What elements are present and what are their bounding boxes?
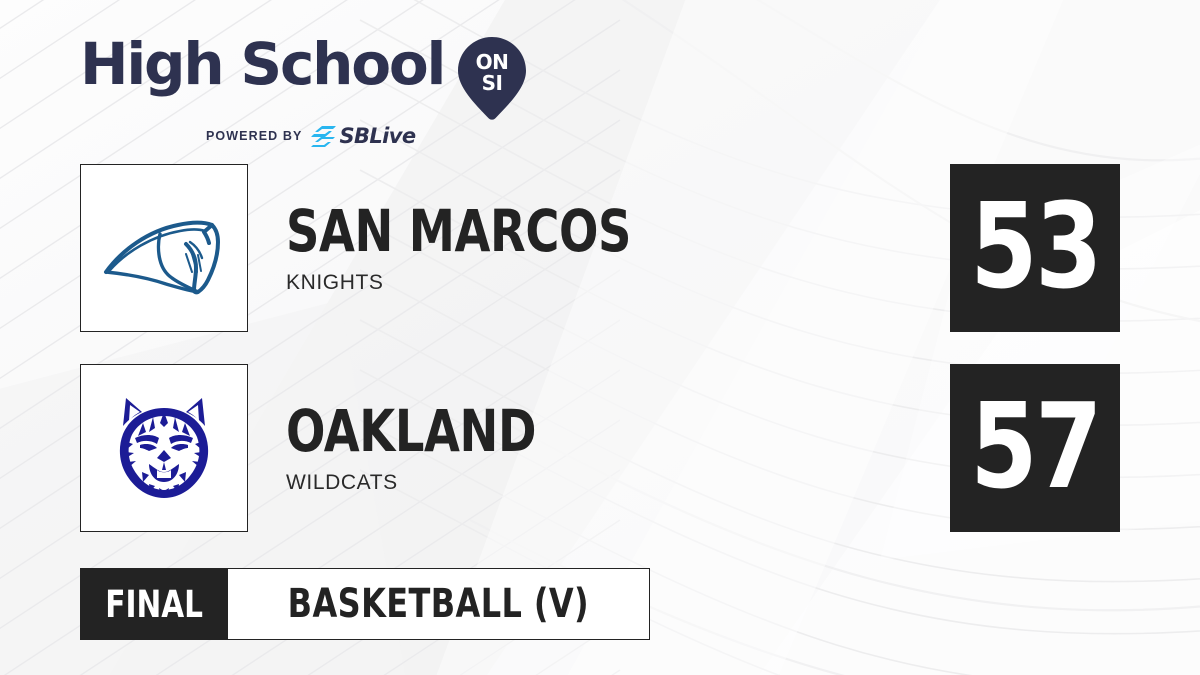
team-row: OAKLAND WILDCATS 57 — [80, 364, 1120, 534]
team-mascot: WILDCATS — [286, 472, 599, 494]
team-score-box: 53 — [950, 164, 1120, 332]
team-score: 57 — [970, 387, 1100, 509]
powered-by-row: POWERED BY SBLive — [206, 125, 510, 147]
status-badge: FINAL — [80, 568, 228, 640]
game-status-bar: FINAL BASKETBALL (V) — [80, 568, 650, 640]
team-row: SAN MARCOS KNIGHTS 53 — [80, 164, 1120, 334]
scorecard-graphic: High School ON SI POWERED BY SBLive — [0, 0, 1200, 675]
team-mascot: KNIGHTS — [286, 272, 717, 294]
team-name: OAKLAND — [286, 402, 536, 460]
team-name: SAN MARCOS — [286, 202, 631, 260]
sblive-logo: SBLive — [311, 125, 415, 147]
on-si-pin-icon: ON SI — [456, 35, 528, 121]
sport-label: BASKETBALL (V) — [288, 584, 589, 624]
wildcat-head-icon — [109, 392, 219, 504]
team-logo-box — [80, 364, 248, 532]
pin-label-si: SI — [482, 71, 503, 95]
team-identity: OAKLAND WILDCATS — [286, 364, 599, 532]
status-badge-label: FINAL — [105, 586, 203, 623]
team-score-box: 57 — [950, 364, 1120, 532]
team-logo-box — [80, 164, 248, 332]
brand-lockup: High School ON SI POWERED BY SBLive — [80, 34, 510, 134]
team-score: 53 — [970, 187, 1100, 309]
sport-label-box: BASKETBALL (V) — [228, 568, 650, 640]
knight-helmet-icon — [100, 198, 228, 298]
brand-top-row: High School ON SI — [80, 34, 510, 121]
brand-wordmark: High School — [80, 34, 444, 94]
powered-by-label: POWERED BY — [206, 129, 302, 143]
sblive-wordmark: SBLive — [339, 126, 415, 147]
sblive-s-mark — [311, 125, 337, 147]
team-identity: SAN MARCOS KNIGHTS — [286, 164, 717, 332]
